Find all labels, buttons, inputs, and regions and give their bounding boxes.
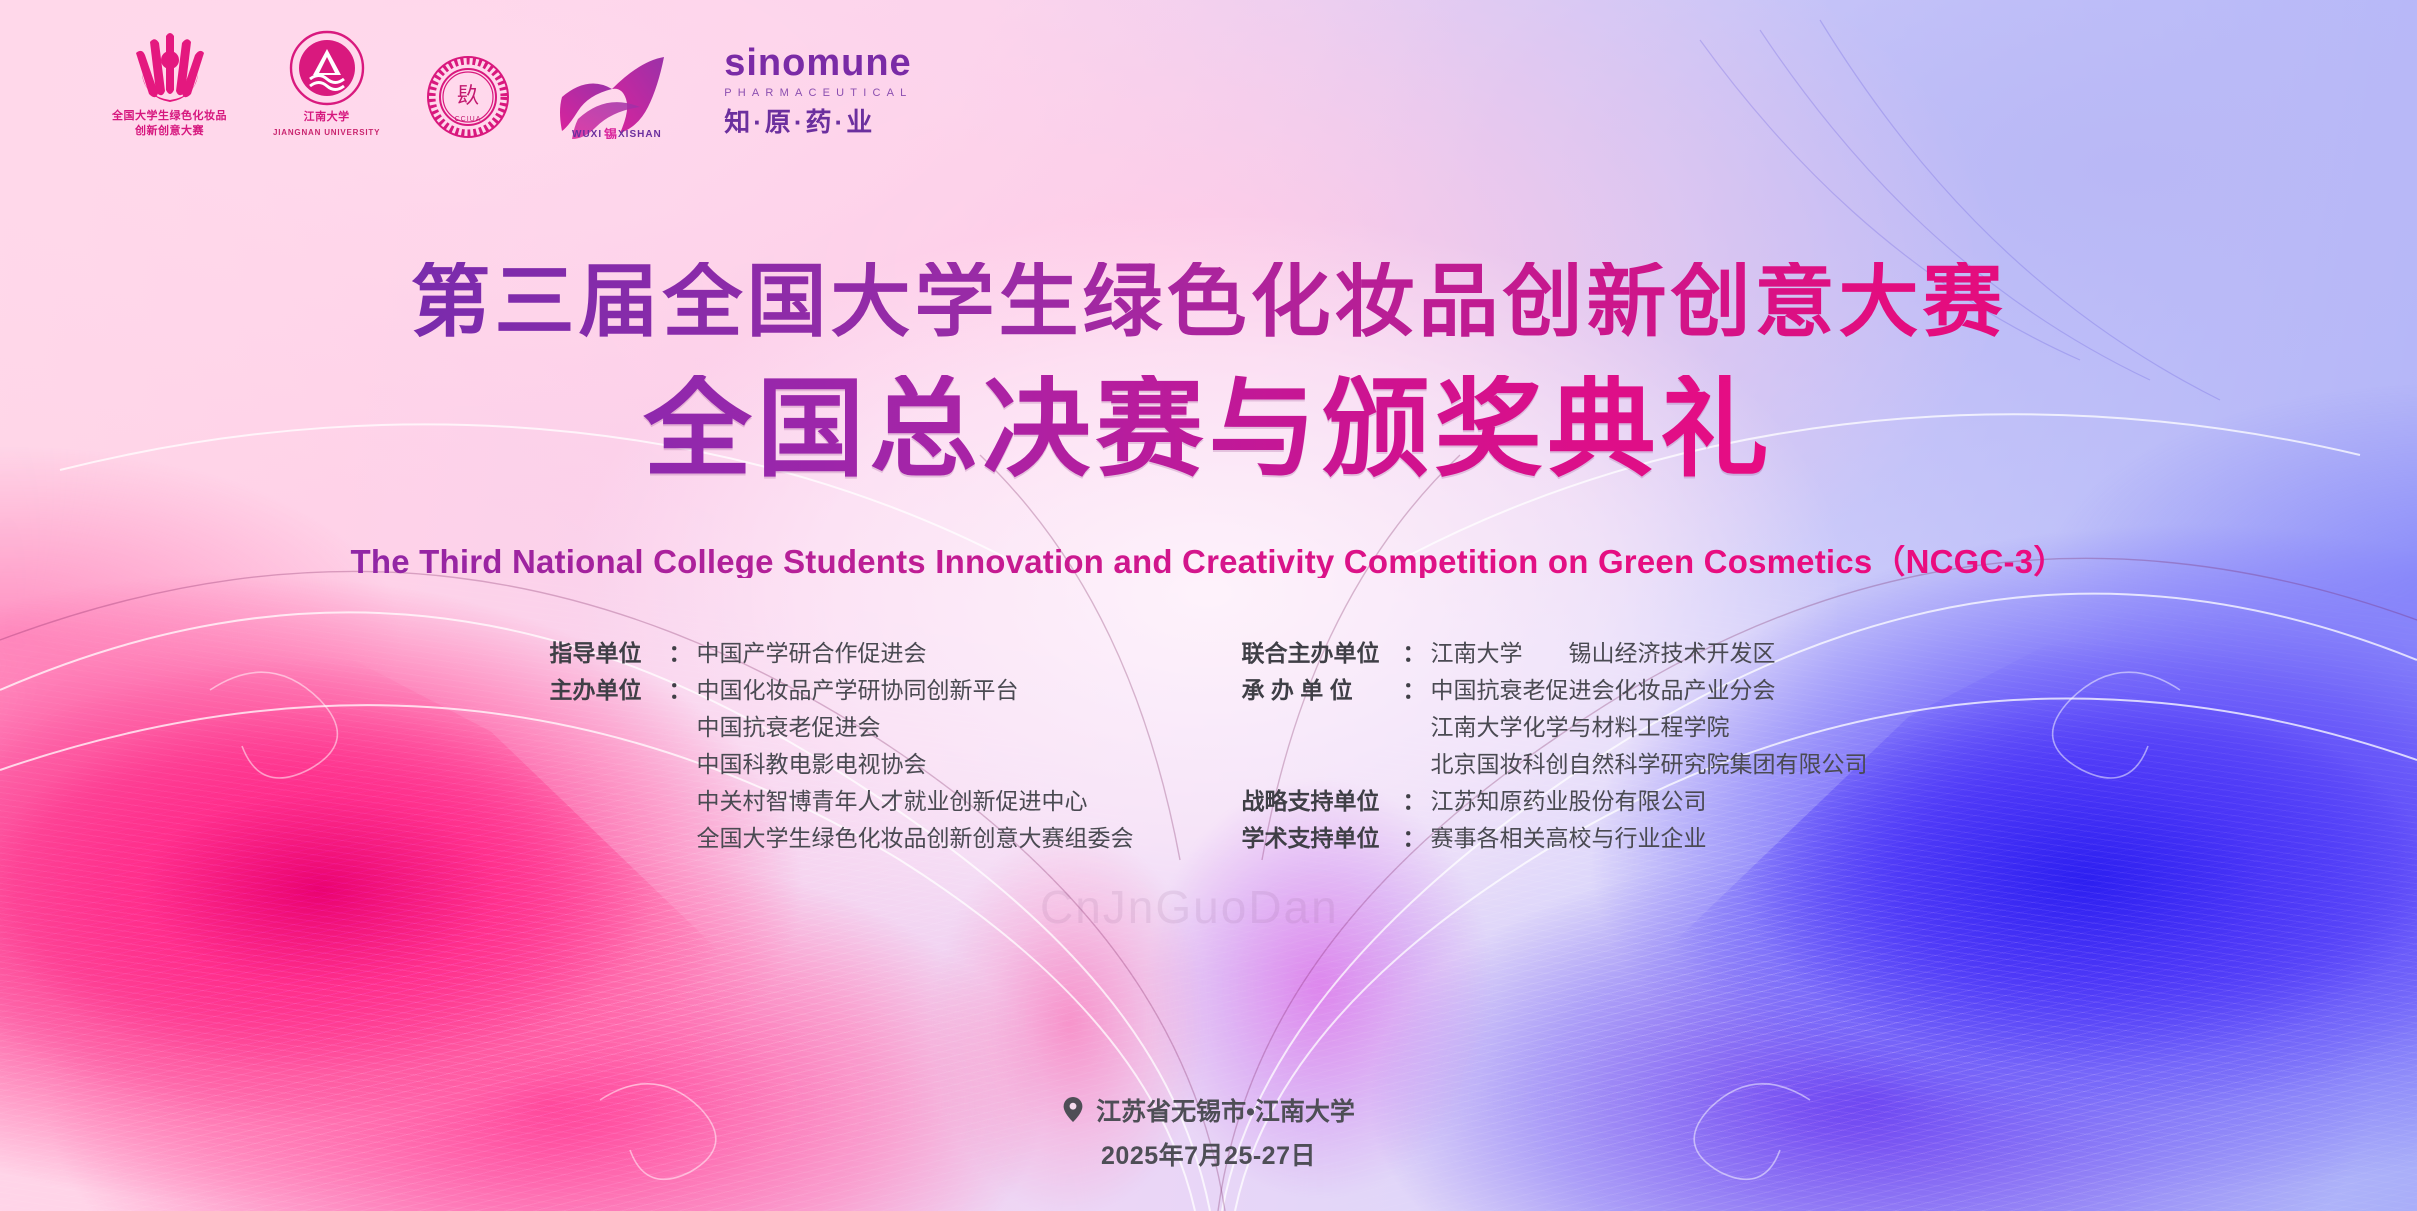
credit-value: 江南大学化学与材料工程学院 [1431,710,1730,744]
sinomune-sub-cn: 知·原·药·业 [724,102,875,139]
credit-colon: ： [1403,784,1426,818]
logo-jiangnan-caption-cn: 江南大学 [304,110,350,125]
credit-value: 全国大学生绿色化妆品创新创意大赛组委会 [697,821,1134,855]
credit-label: 战略支持单位 [1242,784,1402,818]
credit-label: 学术支持单位 [1242,821,1402,855]
svg-text:镹: 镹 [457,83,479,108]
credit-label: 指导单位 [550,636,668,670]
credit-colon: ： [1403,821,1426,855]
credit-row: 主办单位 ： 中关村智博青年人才就业创新促进中心 [550,784,1134,818]
map-pin-icon [1062,1096,1084,1124]
credit-row: 战略支持单位 ： 江苏知原药业股份有限公司 [1242,784,1868,818]
credit-value: 中国抗衰老促进会 [697,710,881,744]
credit-value: 中国科教电影电视协会 [697,747,927,781]
credit-value: 江南大学 锡山经济技术开发区 [1431,636,1776,670]
credit-value: 江苏知原药业股份有限公司 [1431,784,1707,818]
credit-row: 指导单位 ： 中国产学研合作促进会 [550,636,1134,670]
logo-ncgc-caption: 全国大学生绿色化妆品 创新创意大赛 [112,109,227,139]
credit-colon: ： [1403,673,1426,707]
sponsor-logo-row: 全国大学生绿色化妆品 创新创意大赛 江南大学 JIANGNAN UNIVERSI… [112,22,912,139]
svg-text:WUXI: WUXI [572,129,602,139]
poster-subtitle-english: The Third National College Students Inno… [0,545,2417,578]
credit-row: 主办单位 ： 中国抗衰老促进会 [550,710,1134,744]
credit-row: 承 办 单 位 ： 北京国妆科创自然科学研究院集团有限公司 [1242,747,1868,781]
footer-date-text: 2025年7月25-27日 [0,1136,2417,1172]
poster-canvas: CnJnGuoDan 全国大学生绿色化妆品 创新创意大赛 [0,0,2417,1211]
credit-value: 中国产学研合作促进会 [697,636,927,670]
credit-row: 承 办 单 位 ： 中国抗衰老促进会化妆品产业分会 [1242,673,1868,707]
sinomune-brand: sinomune [724,44,911,82]
credit-colon: ： [669,636,692,670]
watermark-text: CnJnGuoDan [1040,880,1339,934]
sinomune-sub-en: PHARMACEUTICAL [724,87,912,99]
credit-label: 承 办 单 位 [1242,673,1402,707]
svg-text:XISHAN: XISHAN [618,129,662,139]
credit-row: 学术支持单位 ： 赛事各相关高校与行业企业 [1242,821,1868,855]
logo-cciua-seal: 镹 CCIUA [426,55,510,139]
footer-section: 江苏省无锡市•江南大学 2025年7月25-27日 [0,1092,2417,1172]
credit-row: 联合主办单位 ： 江南大学 锡山经济技术开发区 [1242,636,1868,670]
ncgc-competition-icon [122,22,218,106]
credits-column-left: 指导单位 ： 中国产学研合作促进会 主办单位 ： 中国化妆品产学研协同创新平台 … [550,636,1134,855]
wuxi-xishan-icon: WUXI XISHAN 锡 [556,53,678,139]
credit-value: 中国化妆品产学研协同创新平台 [697,673,1019,707]
credit-row: 主办单位 ： 中国化妆品产学研协同创新平台 [550,673,1134,707]
credit-row: 承 办 单 位 ： 江南大学化学与材料工程学院 [1242,710,1868,744]
footer-location-row: 江苏省无锡市•江南大学 [1062,1092,1355,1128]
logo-sinomune: sinomune PHARMACEUTICAL 知·原·药·业 [724,44,912,139]
logo-ncgc-competition: 全国大学生绿色化妆品 创新创意大赛 [112,22,227,139]
credits-column-right: 联合主办单位 ： 江南大学 锡山经济技术开发区 承 办 单 位 ： 中国抗衰老促… [1242,636,1868,855]
logo-jiangnan-caption-en: JIANGNAN UNIVERSITY [273,128,380,139]
credit-value: 北京国妆科创自然科学研究院集团有限公司 [1431,747,1868,781]
credit-row: 主办单位 ： 全国大学生绿色化妆品创新创意大赛组委会 [550,821,1134,855]
poster-title-line1: 第三届全国大学生绿色化妆品创新创意大赛 [0,262,2417,342]
credit-label: 联合主办单位 [1242,636,1402,670]
cciua-abbrev: CCIUA [455,116,482,123]
logo-jiangnan-university: 江南大学 JIANGNAN UNIVERSITY [273,29,380,139]
credit-colon: ： [669,673,692,707]
credit-value: 中关村智博青年人才就业创新促进中心 [697,784,1088,818]
credit-value: 赛事各相关高校与行业企业 [1431,821,1707,855]
credits-section: 指导单位 ： 中国产学研合作促进会 主办单位 ： 中国化妆品产学研协同创新平台 … [0,636,2417,855]
poster-title-line2: 全国总决赛与颁奖典礼 [0,375,2417,483]
credit-label: 主办单位 [550,673,668,707]
cciua-seal-icon: 镹 CCIUA [426,55,510,139]
ribbon-stripe-texture-b [0,0,2417,1211]
credit-value: 中国抗衰老促进会化妆品产业分会 [1431,673,1776,707]
footer-location-text: 江苏省无锡市•江南大学 [1096,1092,1355,1128]
credit-colon: ： [1403,636,1426,670]
jiangnan-university-icon [288,29,366,107]
logo-wuxi-xishan: WUXI XISHAN 锡 [556,53,678,139]
svg-text:锡: 锡 [604,127,617,139]
credit-row: 主办单位 ： 中国科教电影电视协会 [550,747,1134,781]
